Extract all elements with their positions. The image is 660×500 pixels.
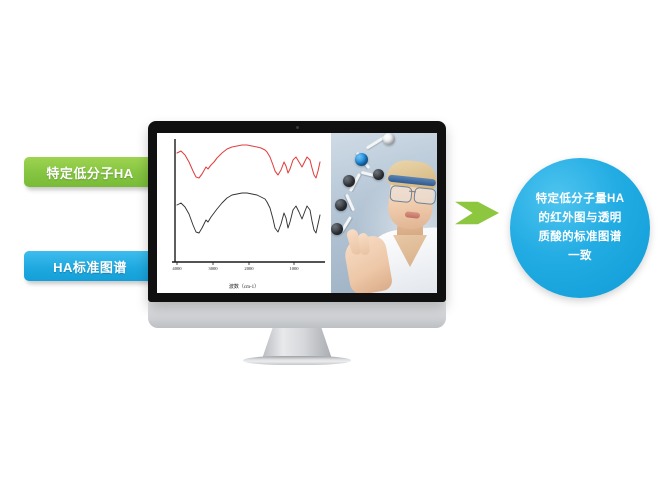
label-specific-low-molecular-ha[interactable]: 特定低分子HA xyxy=(24,157,156,187)
scientist-photo-panel xyxy=(331,133,437,293)
ir-spectrum-svg: 4000 3000 2000 1000 xyxy=(157,133,331,283)
monitor-frame: 4000 3000 2000 1000 波数（cm-1） xyxy=(148,121,446,302)
ir-spectrum-panel: 4000 3000 2000 1000 波数（cm-1） xyxy=(157,133,331,293)
conclusion-line-0: 特定低分子量HA xyxy=(536,190,625,209)
x-axis-label: 波数（cm-1） xyxy=(157,283,331,290)
scientist-figure xyxy=(331,133,437,293)
monitor-neck xyxy=(262,326,332,359)
sample-spectrum-curve xyxy=(177,145,320,178)
x-tick-label-2: 2000 xyxy=(244,266,254,271)
right-chevron-arrow-icon xyxy=(455,193,499,233)
x-tick-label-3: 1000 xyxy=(289,266,299,271)
conclusion-line-1: 的红外图与透明 xyxy=(538,209,621,228)
monitor-chin xyxy=(148,302,446,328)
conclusion-line-3: 一致 xyxy=(568,247,592,266)
monitor-base xyxy=(243,356,351,365)
conclusion-circle: 特定低分子量HA 的红外图与透明 质酸的标准图谱 一致 xyxy=(510,158,650,298)
monitor-screen: 4000 3000 2000 1000 波数（cm-1） xyxy=(157,133,437,293)
conclusion-line-2: 质酸的标准图谱 xyxy=(538,228,621,247)
infographic-stage: 特定低分子HA HA标准图谱 xyxy=(0,0,660,500)
label-ha-standard-spectrum[interactable]: HA标准图谱 xyxy=(24,251,156,281)
glasses-lens-left xyxy=(389,185,413,203)
ir-spectrum-chart: 4000 3000 2000 1000 波数（cm-1） xyxy=(157,133,331,293)
standard-spectrum-curve xyxy=(177,193,320,233)
x-tick-label-1: 3000 xyxy=(208,266,218,271)
webcam-icon xyxy=(296,126,299,129)
x-tick-label-0: 4000 xyxy=(172,266,182,271)
glasses-lens-right xyxy=(413,187,437,205)
